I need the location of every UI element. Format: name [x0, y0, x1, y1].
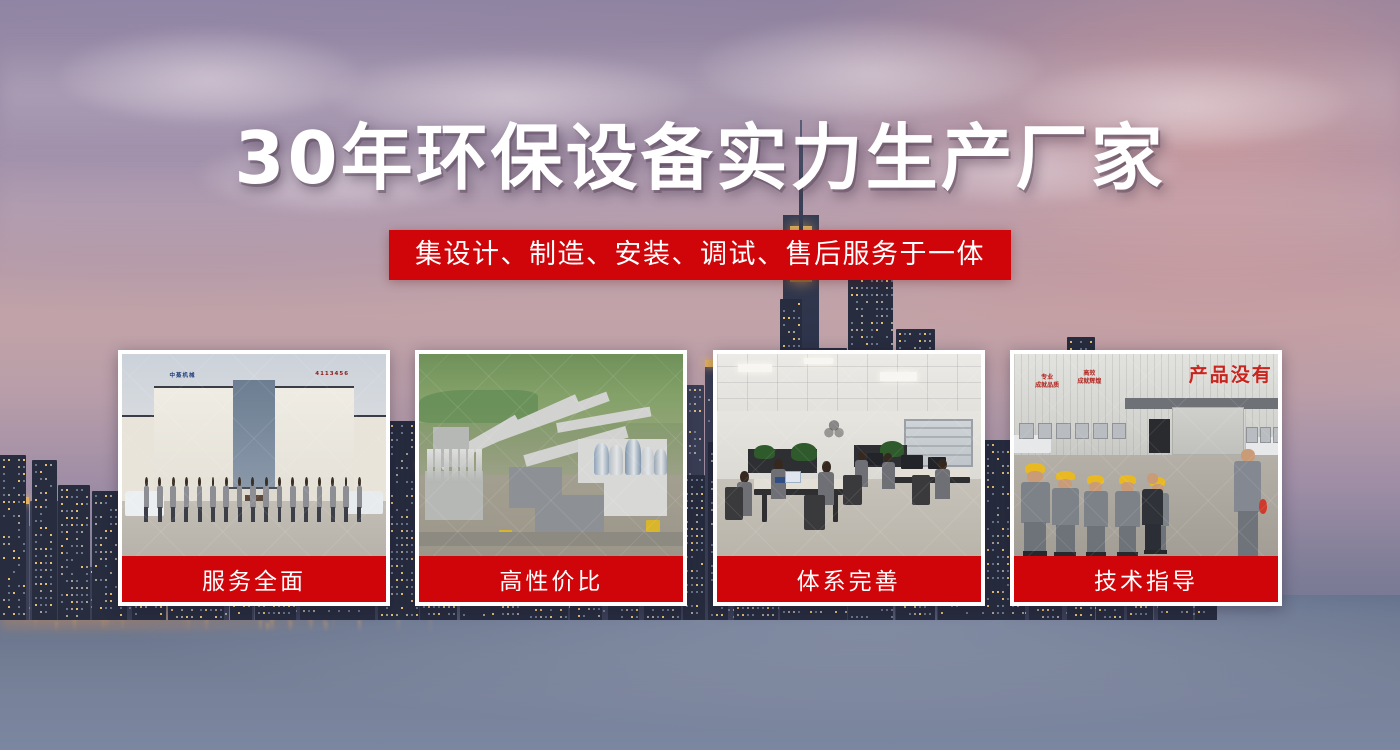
window-light — [871, 343, 873, 345]
window-light — [61, 573, 63, 575]
window-light — [711, 614, 713, 616]
window-light — [50, 597, 52, 599]
window-light — [18, 501, 20, 503]
window-light — [61, 545, 63, 547]
window-light — [820, 611, 822, 613]
window-light — [861, 329, 863, 331]
window-light — [76, 601, 78, 603]
window-light — [3, 557, 5, 559]
window-light — [71, 545, 73, 547]
window-light — [40, 478, 42, 480]
window-light — [3, 494, 5, 496]
window-light — [45, 555, 47, 557]
window-light — [220, 609, 222, 611]
window-light — [35, 534, 37, 536]
window-light — [66, 552, 68, 554]
window-light — [200, 609, 202, 611]
window-light — [110, 600, 112, 602]
window-light — [95, 523, 97, 525]
window-light — [23, 592, 25, 594]
window-light — [40, 548, 42, 550]
window-light — [657, 616, 659, 618]
window-light — [560, 609, 562, 611]
window-light — [772, 607, 774, 609]
window-light — [881, 301, 883, 303]
window-light — [757, 607, 759, 609]
window-light — [45, 527, 47, 529]
window-light — [100, 502, 102, 504]
window-light — [851, 322, 853, 324]
window-light — [866, 336, 868, 338]
window-light — [18, 585, 20, 587]
window-light — [81, 503, 83, 505]
window-light — [783, 310, 785, 312]
window-light — [3, 459, 5, 461]
window-light — [86, 594, 88, 596]
window-light — [871, 336, 873, 338]
window-light — [578, 608, 580, 610]
window-light — [45, 597, 47, 599]
window-light — [798, 317, 800, 319]
window-light — [23, 501, 25, 503]
window-light — [176, 616, 178, 618]
window-light — [115, 586, 117, 588]
window-light — [100, 607, 102, 609]
window-light — [191, 609, 193, 611]
window-light — [23, 466, 25, 468]
window-light — [81, 531, 83, 533]
window-light — [512, 606, 514, 608]
window-light — [448, 606, 450, 608]
window-light — [66, 580, 68, 582]
window-light — [40, 611, 42, 613]
window-light — [95, 516, 97, 518]
window-light — [40, 590, 42, 592]
window-light — [76, 552, 78, 554]
window-light — [891, 280, 893, 282]
window-light — [61, 496, 63, 498]
window-light — [115, 516, 117, 518]
window-light — [598, 615, 600, 617]
window-light — [268, 612, 270, 614]
window-light — [76, 587, 78, 589]
window-light — [886, 336, 888, 338]
window-light — [50, 534, 52, 536]
window-light — [8, 501, 10, 503]
window-light — [45, 478, 47, 480]
window-light — [95, 565, 97, 567]
window-light — [891, 322, 893, 324]
window-light — [110, 509, 112, 511]
window-light — [338, 610, 340, 612]
window-light — [210, 609, 212, 611]
window-light — [71, 517, 73, 519]
window-light — [45, 604, 47, 606]
window-light — [18, 536, 20, 538]
window-light — [61, 566, 63, 568]
window-light — [61, 552, 63, 554]
window-light — [110, 593, 112, 595]
window-light — [45, 562, 47, 564]
window-light — [667, 609, 669, 611]
window-light — [18, 466, 20, 468]
window-light — [8, 536, 10, 538]
window-light — [86, 524, 88, 526]
window-light — [40, 520, 42, 522]
window-light — [8, 592, 10, 594]
window-light — [76, 594, 78, 596]
window-light — [881, 280, 883, 282]
window-light — [50, 464, 52, 466]
window-light — [71, 601, 73, 603]
window-light — [35, 555, 37, 557]
window-light — [35, 562, 37, 564]
window-light — [851, 329, 853, 331]
window-light — [18, 557, 20, 559]
window-light — [8, 459, 10, 461]
window-light — [3, 599, 5, 601]
window-light — [171, 609, 173, 611]
window-light — [3, 480, 5, 482]
window-light — [406, 614, 408, 616]
window-light — [76, 524, 78, 526]
window-light — [3, 501, 5, 503]
window-light — [851, 343, 853, 345]
window-light — [81, 545, 83, 547]
window-light — [76, 517, 78, 519]
window-light — [891, 287, 893, 289]
window-light — [881, 294, 883, 296]
window-light — [61, 489, 63, 491]
window-light — [8, 494, 10, 496]
window-light — [86, 587, 88, 589]
window-light — [886, 315, 888, 317]
window-light — [3, 473, 5, 475]
window-light — [672, 609, 674, 611]
window-light — [502, 613, 504, 615]
window-light — [61, 510, 63, 512]
window-light — [588, 608, 590, 610]
window-light — [737, 607, 739, 609]
window-light — [50, 548, 52, 550]
window-light — [71, 510, 73, 512]
window-light — [50, 583, 52, 585]
window-light — [891, 343, 893, 345]
window-light — [100, 544, 102, 546]
window-light — [45, 583, 47, 585]
window-light — [23, 473, 25, 475]
window-light — [110, 530, 112, 532]
window-light — [18, 494, 20, 496]
window-light — [3, 487, 5, 489]
window-light — [876, 343, 878, 345]
window-light — [636, 616, 638, 618]
window-light — [110, 607, 112, 609]
window-light — [18, 564, 20, 566]
window-light — [18, 599, 20, 601]
window-light — [105, 551, 107, 553]
window-light — [35, 576, 37, 578]
window-light — [95, 537, 97, 539]
window-light — [788, 611, 790, 613]
window-light — [86, 566, 88, 568]
window-light — [273, 612, 275, 614]
window-light — [621, 609, 623, 611]
window-light — [100, 558, 102, 560]
window-light — [81, 587, 83, 589]
window-light — [115, 558, 117, 560]
window-light — [40, 562, 42, 564]
window-light — [358, 610, 360, 612]
window-light — [40, 583, 42, 585]
window-light — [3, 613, 5, 615]
window-light — [783, 317, 785, 319]
window-light — [631, 609, 633, 611]
window-light — [788, 345, 790, 347]
window-light — [81, 608, 83, 610]
window-light — [191, 616, 193, 618]
window-light — [23, 543, 25, 545]
window-light — [35, 604, 37, 606]
window-light — [396, 614, 398, 616]
window-light — [507, 606, 509, 608]
window-light — [13, 515, 15, 517]
window-light — [40, 604, 42, 606]
window-light — [856, 294, 858, 296]
window-light — [40, 597, 42, 599]
window-light — [886, 287, 888, 289]
window-light — [483, 614, 485, 616]
window-light — [793, 331, 795, 333]
window-light — [35, 471, 37, 473]
window-light — [677, 616, 679, 618]
cloud — [700, 20, 1040, 115]
window-light — [8, 585, 10, 587]
window-light — [8, 543, 10, 545]
window-light — [742, 614, 744, 616]
window-light — [76, 496, 78, 498]
window-light — [308, 610, 310, 612]
window-light — [35, 485, 37, 487]
window-light — [50, 562, 52, 564]
window-light — [105, 502, 107, 504]
window-light — [66, 510, 68, 512]
window-light — [876, 315, 878, 317]
window-light — [535, 609, 537, 611]
window-light — [876, 322, 878, 324]
window-light — [433, 613, 435, 615]
window-light — [71, 580, 73, 582]
window-light — [100, 516, 102, 518]
window-light — [411, 614, 413, 616]
window-light — [443, 606, 445, 608]
window-light — [626, 609, 628, 611]
window-light — [381, 614, 383, 616]
window-light — [35, 541, 37, 543]
window-light — [672, 616, 674, 618]
window-light — [438, 606, 440, 608]
window-light — [886, 280, 888, 282]
window-light — [110, 572, 112, 574]
window-light — [120, 607, 122, 609]
window-light — [856, 301, 858, 303]
window-light — [815, 611, 817, 613]
window-light — [50, 555, 52, 557]
window-light — [578, 615, 580, 617]
window-light — [540, 609, 542, 611]
window-light — [115, 509, 117, 511]
window-light — [747, 614, 749, 616]
window-light — [876, 308, 878, 310]
window-light — [423, 606, 425, 608]
window-light — [3, 536, 5, 538]
window-light — [783, 611, 785, 613]
window-light — [23, 480, 25, 482]
window-light — [35, 506, 37, 508]
window-light — [876, 287, 878, 289]
promo-banner: 30年环保设备实力生产厂家 集设计、制造、安装、调试、售后服务于一体 中蒸机械 … — [0, 0, 1400, 750]
window-light — [313, 610, 315, 612]
window-light — [861, 315, 863, 317]
window-light — [66, 531, 68, 533]
window-light — [583, 615, 585, 617]
window-light — [856, 329, 858, 331]
window-light — [716, 614, 718, 616]
window-light — [428, 606, 430, 608]
window-light — [23, 459, 25, 461]
window-light — [225, 613, 227, 615]
window-light — [386, 614, 388, 616]
window-light — [871, 294, 873, 296]
window-light — [560, 616, 562, 618]
window-light — [105, 579, 107, 581]
window-light — [530, 616, 532, 618]
window-light — [401, 607, 403, 609]
window-light — [851, 294, 853, 296]
window-light — [18, 529, 20, 531]
window-light — [876, 294, 878, 296]
window-light — [767, 607, 769, 609]
window-light — [81, 524, 83, 526]
window-light — [66, 524, 68, 526]
window-light — [100, 551, 102, 553]
window-light — [105, 558, 107, 560]
window-light — [861, 322, 863, 324]
window-light — [110, 551, 112, 553]
window-light — [66, 566, 68, 568]
window-light — [416, 614, 418, 616]
window-light — [866, 287, 868, 289]
window-light — [540, 616, 542, 618]
window-light — [61, 503, 63, 505]
window-light — [278, 612, 280, 614]
window-light — [40, 471, 42, 473]
window-light — [76, 531, 78, 533]
window-light — [416, 607, 418, 609]
window-light — [81, 552, 83, 554]
window-light — [696, 612, 698, 614]
window-light — [105, 593, 107, 595]
window-light — [845, 611, 847, 613]
window-light — [40, 534, 42, 536]
window-light — [71, 587, 73, 589]
window-light — [283, 612, 285, 614]
window-light — [3, 515, 5, 517]
window-light — [783, 345, 785, 347]
window-light — [798, 338, 800, 340]
window-light — [50, 604, 52, 606]
window-light — [438, 613, 440, 615]
window-light — [105, 530, 107, 532]
window-light — [95, 579, 97, 581]
window-light — [205, 609, 207, 611]
window-light — [793, 611, 795, 613]
window-light — [45, 611, 47, 613]
window-light — [861, 336, 863, 338]
window-light — [45, 569, 47, 571]
window-light — [50, 541, 52, 543]
window-light — [115, 544, 117, 546]
window-light — [181, 609, 183, 611]
window-light — [545, 616, 547, 618]
window-light — [45, 464, 47, 466]
window-light — [386, 607, 388, 609]
window-light — [258, 612, 260, 614]
window-light — [8, 599, 10, 601]
window-light — [86, 517, 88, 519]
window-light — [793, 345, 795, 347]
window-light — [86, 573, 88, 575]
window-light — [110, 495, 112, 497]
window-light — [76, 503, 78, 505]
window-light — [50, 590, 52, 592]
window-light — [891, 308, 893, 310]
window-light — [891, 329, 893, 331]
window-light — [861, 308, 863, 310]
window-light — [13, 487, 15, 489]
window-light — [652, 609, 654, 611]
window-light — [45, 506, 47, 508]
window-light — [100, 537, 102, 539]
window-light — [517, 613, 519, 615]
window-light — [8, 606, 10, 608]
window-light — [40, 513, 42, 515]
window-light — [66, 496, 68, 498]
window-light — [788, 317, 790, 319]
window-light — [752, 614, 754, 616]
building — [0, 455, 26, 620]
window-light — [798, 345, 800, 347]
window-light — [861, 280, 863, 282]
window-light — [861, 294, 863, 296]
window-light — [105, 600, 107, 602]
window-light — [181, 616, 183, 618]
window-light — [110, 516, 112, 518]
window-light — [115, 523, 117, 525]
window-light — [798, 303, 800, 305]
window-light — [86, 496, 88, 498]
window-light — [50, 576, 52, 578]
window-light — [105, 537, 107, 539]
window-light — [13, 571, 15, 573]
window-light — [76, 510, 78, 512]
window-light — [61, 594, 63, 596]
window-light — [691, 612, 693, 614]
window-light — [86, 503, 88, 505]
window-light — [303, 610, 305, 612]
cloud — [60, 30, 360, 120]
window-light — [881, 322, 883, 324]
